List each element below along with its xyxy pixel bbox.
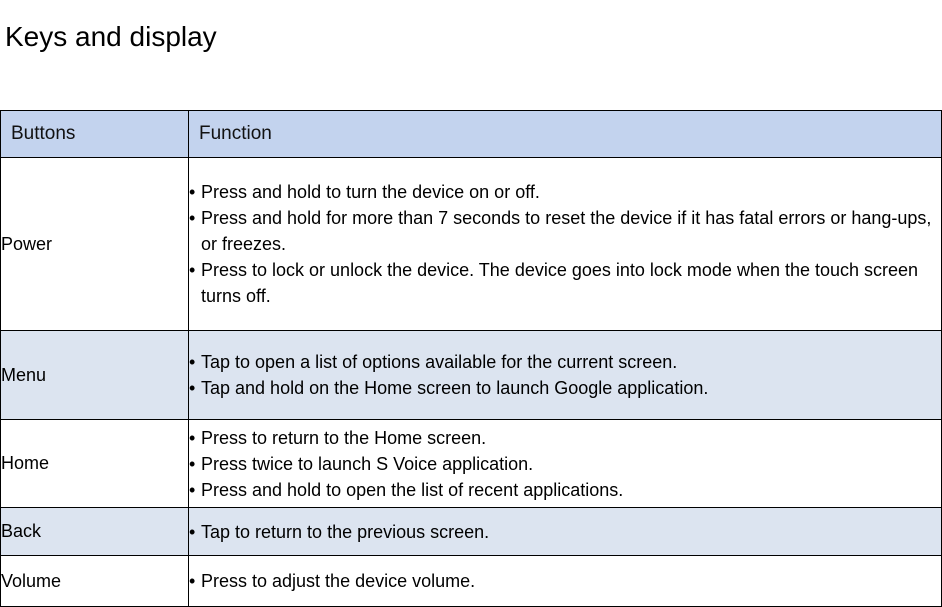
keys-and-display-table: Buttons Function Power •Press and hold t… [0,110,942,607]
bullet-icon: • [189,205,195,231]
bullet-icon: • [189,349,195,375]
document-page: Keys and display Buttons Function Power [0,0,942,603]
list-item: •Press and hold to turn the device on or… [189,179,941,205]
list-item-text: Press and hold to open the list of recen… [201,480,623,500]
list-item-text: Press to adjust the device volume. [201,571,475,591]
list-item-text: Press and hold for more than 7 seconds t… [201,208,931,254]
list-item: •Press twice to launch S Voice applicati… [189,451,941,477]
button-name-cell: Back [1,508,189,556]
function-description-cell: •Tap to open a list of options available… [189,331,942,420]
table-row: Menu •Tap to open a list of options avai… [1,331,942,420]
list-item-text: Press twice to launch S Voice applicatio… [201,454,533,474]
list-item-text: Press and hold to turn the device on or … [201,182,540,202]
function-bullet-list: •Press to adjust the device volume. [189,568,941,594]
table-row: Volume •Press to adjust the device volum… [1,556,942,607]
function-description-cell: •Press and hold to turn the device on or… [189,158,942,331]
list-item: •Tap to return to the previous screen. [189,519,941,545]
bullet-icon: • [189,568,195,594]
bullet-icon: • [189,451,195,477]
list-item: •Press to lock or unlock the device. The… [189,257,941,309]
bullet-icon: • [189,425,195,451]
list-item: •Press to return to the Home screen. [189,425,941,451]
list-item-text: Tap to open a list of options available … [201,352,677,372]
list-item: •Press and hold for more than 7 seconds … [189,205,941,257]
page-title: Keys and display [5,20,217,54]
list-item: •Tap and hold on the Home screen to laun… [189,375,941,401]
button-name-cell: Home [1,420,189,508]
column-header-function-label: Function [189,122,941,146]
button-name-cell: Power [1,158,189,331]
function-description-cell: •Press to return to the Home screen. •Pr… [189,420,942,508]
table-row: Home •Press to return to the Home screen… [1,420,942,508]
table-row: Power •Press and hold to turn the device… [1,158,942,331]
function-bullet-list: •Press and hold to turn the device on or… [189,179,941,309]
column-header-function: Function [189,111,942,158]
list-item-text: Tap and hold on the Home screen to launc… [201,378,708,398]
button-name-cell: Menu [1,331,189,420]
column-header-buttons-label: Buttons [1,122,188,146]
table-body: Power •Press and hold to turn the device… [1,158,942,607]
column-header-buttons: Buttons [1,111,189,158]
bullet-icon: • [189,477,195,503]
function-bullet-list: •Press to return to the Home screen. •Pr… [189,425,941,503]
function-description-cell: •Press to adjust the device volume. [189,556,942,607]
table-row: Back •Tap to return to the previous scre… [1,508,942,556]
list-item-text: Tap to return to the previous screen. [201,522,489,542]
bullet-icon: • [189,519,195,545]
list-item: •Press to adjust the device volume. [189,568,941,594]
bullet-icon: • [189,375,195,401]
list-item: •Tap to open a list of options available… [189,349,941,375]
list-item: •Press and hold to open the list of rece… [189,477,941,503]
button-name-cell: Volume [1,556,189,607]
bullet-icon: • [189,179,195,205]
function-bullet-list: •Tap to open a list of options available… [189,349,941,401]
list-item-text: Press to lock or unlock the device. The … [201,260,918,306]
function-bullet-list: •Tap to return to the previous screen. [189,519,941,545]
list-item-text: Press to return to the Home screen. [201,428,486,448]
table-header-row: Buttons Function [1,111,942,158]
function-description-cell: •Tap to return to the previous screen. [189,508,942,556]
bullet-icon: • [189,257,195,283]
